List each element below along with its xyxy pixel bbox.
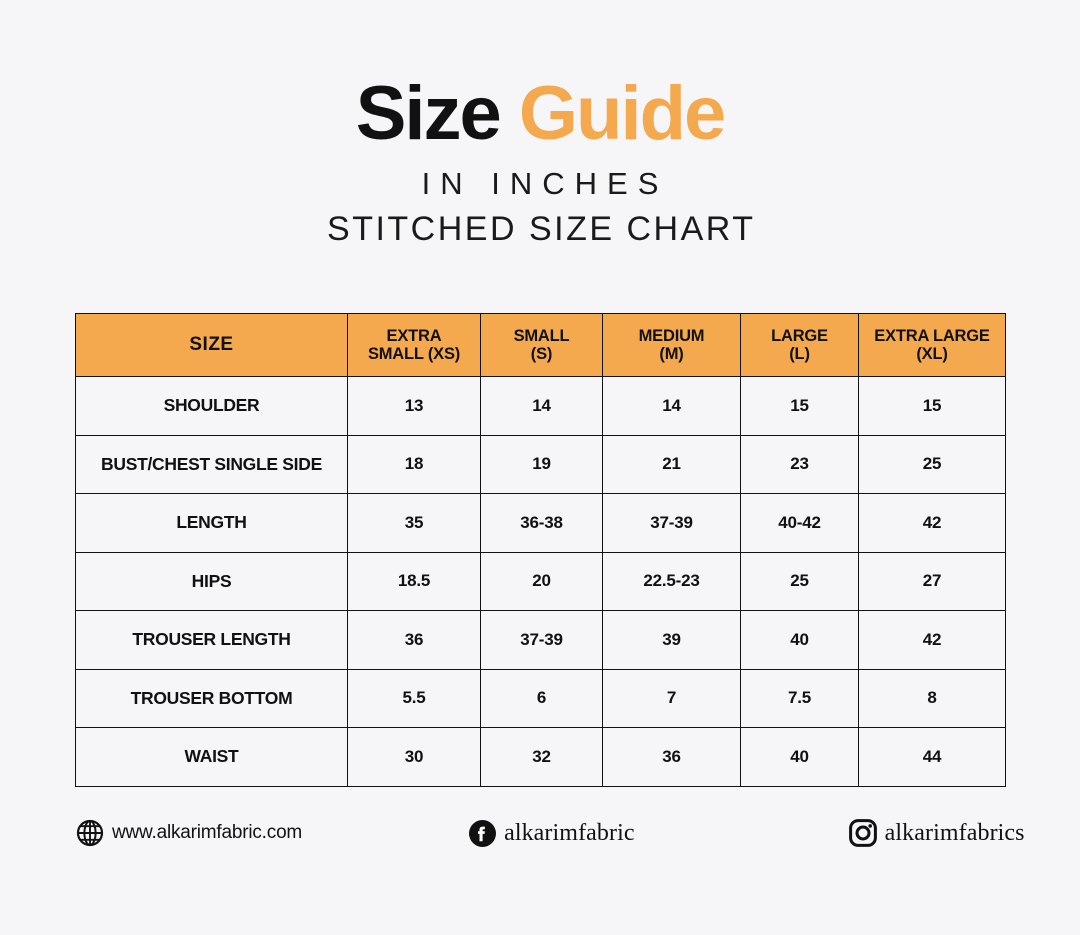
cell-l: 7.5	[741, 669, 859, 728]
size-guide-page: Size Guide IN INCHES STITCHED SIZE CHART…	[0, 0, 1080, 935]
footer: www.alkarimfabric.com alkarimfabric alka…	[75, 818, 1005, 848]
row-label: TROUSER LENGTH	[76, 611, 348, 670]
column-header-size-line1: SIZE	[189, 334, 233, 355]
row-label: BUST/CHEST SINGLE SIDE	[76, 435, 348, 494]
column-header-size: SIZE	[76, 314, 348, 377]
table-header-row: SIZE EXTRA SMALL (XS) SMALL (S) MEDIUM (…	[76, 314, 1006, 377]
table-body: SHOULDER 13 14 14 15 15 BUST/CHEST SINGL…	[76, 377, 1006, 787]
size-chart-table-wrapper: SIZE EXTRA SMALL (XS) SMALL (S) MEDIUM (…	[75, 313, 1005, 787]
cell-l: 15	[741, 377, 859, 436]
row-label: SHOULDER	[76, 377, 348, 436]
footer-website-label: www.alkarimfabric.com	[112, 822, 302, 844]
cell-xl: 44	[859, 728, 1006, 787]
cell-l: 23	[741, 435, 859, 494]
globe-icon	[75, 818, 105, 848]
cell-xs: 5.5	[348, 669, 481, 728]
cell-xs: 35	[348, 494, 481, 553]
cell-m: 36	[603, 728, 741, 787]
cell-l: 40	[741, 728, 859, 787]
row-label: TROUSER BOTTOM	[76, 669, 348, 728]
cell-xs: 13	[348, 377, 481, 436]
row-label: LENGTH	[76, 494, 348, 553]
table-row: BUST/CHEST SINGLE SIDE 18 19 21 23 25	[76, 435, 1006, 494]
cell-l: 40	[741, 611, 859, 670]
column-header-xl: EXTRA LARGE (XL)	[859, 314, 1006, 377]
column-header-xs-line2: SMALL (XS)	[368, 345, 460, 363]
cell-xl: 42	[859, 494, 1006, 553]
page-title-part-size: Size	[356, 71, 500, 156]
footer-facebook-label: alkarimfabric	[504, 820, 635, 847]
cell-xl: 27	[859, 552, 1006, 611]
table-row: TROUSER BOTTOM 5.5 6 7 7.5 8	[76, 669, 1006, 728]
table-row: TROUSER LENGTH 36 37-39 39 40 42	[76, 611, 1006, 670]
column-header-m-line2: (M)	[659, 345, 683, 363]
column-header-m-line1: MEDIUM	[639, 327, 705, 345]
cell-xs: 30	[348, 728, 481, 787]
cell-xl: 42	[859, 611, 1006, 670]
column-header-m: MEDIUM (M)	[603, 314, 741, 377]
cell-m: 7	[603, 669, 741, 728]
instagram-icon	[848, 818, 878, 848]
column-header-xs: EXTRA SMALL (XS)	[348, 314, 481, 377]
size-chart-table: SIZE EXTRA SMALL (XS) SMALL (S) MEDIUM (…	[75, 313, 1006, 787]
column-header-xl-line2: (XL)	[916, 345, 947, 363]
cell-s: 32	[481, 728, 603, 787]
footer-instagram[interactable]: alkarimfabrics	[848, 818, 1025, 848]
table-row: WAIST 30 32 36 40 44	[76, 728, 1006, 787]
cell-xs: 18	[348, 435, 481, 494]
column-header-xs-line1: EXTRA	[387, 327, 442, 345]
cell-m: 22.5-23	[603, 552, 741, 611]
cell-xl: 8	[859, 669, 1006, 728]
cell-xs: 36	[348, 611, 481, 670]
table-header: SIZE EXTRA SMALL (XS) SMALL (S) MEDIUM (…	[76, 314, 1006, 377]
table-row: LENGTH 35 36-38 37-39 40-42 42	[76, 494, 1006, 553]
column-header-xl-line1: EXTRA LARGE	[874, 327, 989, 345]
cell-s: 20	[481, 552, 603, 611]
page-title-part-guide: Guide	[519, 71, 724, 156]
column-header-l-line2: (L)	[789, 345, 809, 363]
column-header-s-line1: SMALL	[514, 327, 570, 345]
cell-xl: 25	[859, 435, 1006, 494]
cell-m: 21	[603, 435, 741, 494]
cell-s: 36-38	[481, 494, 603, 553]
cell-s: 6	[481, 669, 603, 728]
column-header-s-line2: (S)	[531, 345, 552, 363]
cell-m: 39	[603, 611, 741, 670]
title-block: Size Guide IN INCHES STITCHED SIZE CHART	[0, 0, 1080, 249]
subtitle-chart-type: STITCHED SIZE CHART	[0, 210, 1080, 249]
cell-l: 25	[741, 552, 859, 611]
footer-facebook[interactable]: alkarimfabric	[467, 818, 635, 848]
cell-s: 19	[481, 435, 603, 494]
cell-m: 14	[603, 377, 741, 436]
cell-l: 40-42	[741, 494, 859, 553]
row-label: HIPS	[76, 552, 348, 611]
footer-website[interactable]: www.alkarimfabric.com	[75, 818, 302, 848]
cell-xl: 15	[859, 377, 1006, 436]
cell-s: 37-39	[481, 611, 603, 670]
cell-m: 37-39	[603, 494, 741, 553]
column-header-l-line1: LARGE	[771, 327, 828, 345]
column-header-s: SMALL (S)	[481, 314, 603, 377]
subtitle-unit: IN INCHES	[0, 166, 1080, 202]
cell-s: 14	[481, 377, 603, 436]
page-title: Size Guide	[0, 78, 1080, 150]
footer-instagram-label: alkarimfabrics	[885, 820, 1025, 847]
row-label: WAIST	[76, 728, 348, 787]
table-row: SHOULDER 13 14 14 15 15	[76, 377, 1006, 436]
column-header-l: LARGE (L)	[741, 314, 859, 377]
facebook-icon	[467, 818, 497, 848]
cell-xs: 18.5	[348, 552, 481, 611]
table-row: HIPS 18.5 20 22.5-23 25 27	[76, 552, 1006, 611]
